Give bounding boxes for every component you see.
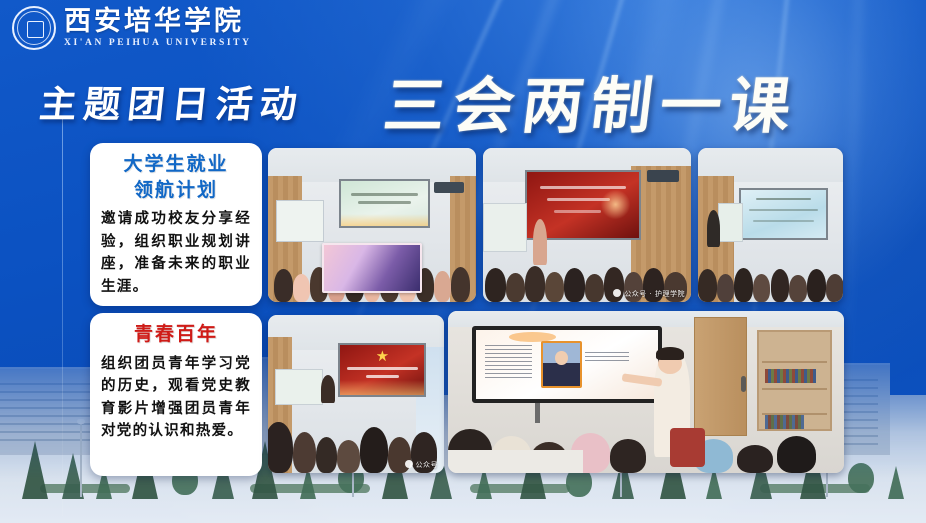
photo-classroom-teal-screen	[698, 148, 843, 302]
sub-title: 主题团日活动	[37, 74, 307, 128]
card-youth-century-body: 组织团员青年学习党的历史，观看党史教育影片增强团员青年对党的认识和热爱。	[101, 353, 251, 443]
photo-group-banner	[268, 148, 476, 302]
photo-lecture-red-screen: 公众号 · 护理学院	[483, 148, 691, 302]
photo-lecture-watermark: 公众号 · 护理学院	[613, 289, 685, 299]
slide-root: 西安培华学院 XI'AN PEIHUA UNIVERSITY 主题团日活动 三会…	[0, 0, 926, 523]
card-employment: 大学生就业 领航计划 邀请成功校友分享经验，组织职业规划讲座，准备未来的职业生涯…	[90, 143, 262, 306]
card-employment-title-line2: 领航计划	[101, 178, 251, 204]
university-name-en: XI'AN PEIHUA UNIVERSITY	[64, 39, 252, 49]
main-title: 三会两制一课	[380, 56, 805, 145]
university-seal-icon	[12, 6, 56, 50]
card-employment-title: 大学生就业 领航计划	[101, 152, 251, 203]
photo-two-sessions: 公众号	[268, 315, 444, 473]
brand-lockup: 西安培华学院 XI'AN PEIHUA UNIVERSITY	[12, 6, 252, 50]
card-youth-century: 青春百年 组织团员青年学习党的历史，观看党史教育影片增强团员青年对党的认识和热爱…	[90, 313, 262, 476]
card-employment-title-line1: 大学生就业	[101, 152, 251, 178]
university-name-cn: 西安培华学院	[64, 8, 252, 35]
photo-two-sessions-watermark: 公众号	[405, 460, 439, 470]
photo-presentation-tv	[448, 311, 844, 473]
card-employment-body: 邀请成功校友分享经验，组织职业规划讲座，准备未来的职业生涯。	[101, 208, 251, 298]
card-youth-century-title: 青春百年	[101, 322, 251, 348]
